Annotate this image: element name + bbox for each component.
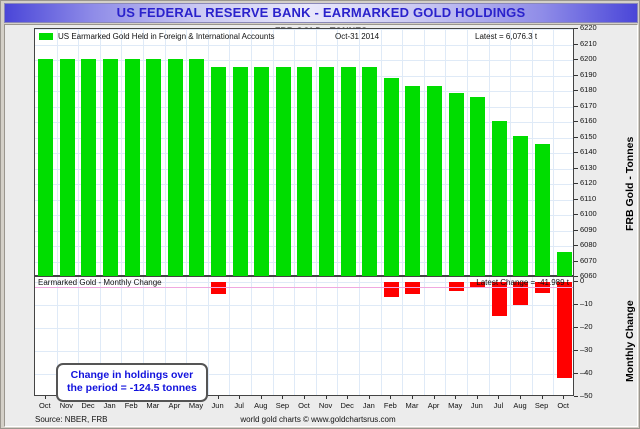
y-tick: [574, 396, 578, 397]
y-tick: [574, 261, 578, 262]
window-title: US FEDERAL RESERVE BANK - EARMARKED GOLD…: [5, 5, 637, 20]
y-tick-label: 6150: [580, 133, 597, 141]
y-tick-label: 6170: [580, 102, 597, 110]
y-tick: [574, 75, 578, 76]
callout-line-1: Change in holdings over: [71, 369, 194, 381]
holdings-bar: [38, 59, 53, 276]
chart-legend: US Earmarked Gold Held in Foreign & Inte…: [39, 32, 275, 41]
x-tick: [520, 396, 521, 399]
x-tick: [304, 396, 305, 399]
y-tick: [574, 137, 578, 138]
legend-label: US Earmarked Gold Held in Foreign & Inte…: [58, 32, 275, 41]
holdings-bar: [233, 67, 248, 276]
holdings-bar: [384, 78, 399, 276]
y-tick-label: 6130: [580, 164, 597, 172]
latest-change-annotation: Latest Change = -41.989 t: [476, 278, 569, 287]
monthly-change-header: Earmarked Gold - Monthly Change Latest C…: [35, 277, 573, 288]
holdings-bar: [535, 144, 550, 276]
monthly-change-label: Earmarked Gold - Monthly Change: [38, 278, 162, 287]
y-tick-label: –50: [580, 392, 593, 400]
y-tick-label: 6090: [580, 226, 597, 234]
y-tick-label: 6110: [580, 195, 596, 203]
y-tick: [574, 152, 578, 153]
holdings-bar: [189, 59, 204, 276]
x-tick: [218, 396, 219, 399]
x-tick: [498, 396, 499, 399]
y-tick: [574, 304, 578, 305]
y-tick-label: 6100: [580, 210, 597, 218]
monthly-change-axis-title: Monthly Change: [624, 300, 636, 382]
y-tick: [574, 90, 578, 91]
y-tick: [574, 281, 578, 282]
x-tick: [563, 396, 564, 399]
y-tick: [574, 245, 578, 246]
x-tick: [326, 396, 327, 399]
holdings-bar: [449, 93, 464, 276]
y-tick: [574, 350, 578, 351]
x-tick: [45, 396, 46, 399]
holdings-panel: US Earmarked Gold Held in Foreign & Inte…: [34, 28, 574, 276]
holdings-bar: [297, 67, 312, 276]
x-tick: [477, 396, 478, 399]
y-tick: [574, 199, 578, 200]
x-tick: [390, 396, 391, 399]
holdings-bar: [254, 67, 269, 276]
x-tick: [369, 396, 370, 399]
legend-swatch-green: [39, 33, 53, 40]
x-tick: [542, 396, 543, 399]
holdings-bar: [319, 67, 334, 276]
y-tick: [574, 214, 578, 215]
holdings-bar: [146, 59, 161, 276]
y-tick: [574, 121, 578, 122]
holdings-axis-title: FRB Gold - Tonnes: [624, 137, 636, 231]
holdings-bar: [103, 59, 118, 276]
holdings-bar: [557, 252, 572, 276]
y-tick: [574, 183, 578, 184]
monthly-change-bar: [557, 282, 572, 379]
window-title-bar: US FEDERAL RESERVE BANK - EARMARKED GOLD…: [4, 3, 638, 23]
y-tick: [574, 168, 578, 169]
holdings-bar: [362, 67, 377, 276]
date-annotation: Oct-31 2014: [335, 32, 379, 41]
x-tick: [455, 396, 456, 399]
callout-line-2: the period = -124.5 tonnes: [67, 382, 197, 394]
watermark-label: world gold charts © www.goldchartsrus.co…: [1, 415, 635, 424]
chart-window: US FEDERAL RESERVE BANK - EARMARKED GOLD…: [0, 0, 640, 429]
x-tick: [412, 396, 413, 399]
x-tick: [347, 396, 348, 399]
y-tick: [574, 373, 578, 374]
holdings-bar: [427, 86, 442, 276]
x-tick: [434, 396, 435, 399]
holdings-bar: [341, 67, 356, 276]
y-tick-label: 6200: [580, 55, 597, 63]
holdings-bar: [125, 59, 140, 276]
y-tick-label: –40: [580, 369, 593, 377]
y-tick: [574, 327, 578, 328]
y-tick-label: 6140: [580, 148, 597, 156]
holdings-bar: [405, 86, 420, 276]
y-tick: [574, 276, 578, 277]
y-tick-label: 6080: [580, 241, 597, 249]
holdings-bar: [60, 59, 75, 276]
y-tick: [574, 28, 578, 29]
holdings-bars: [35, 29, 573, 275]
x-tick-label: Oct: [549, 401, 577, 410]
period-change-callout: Change in holdings over the period = -12…: [56, 363, 208, 402]
y-tick-label: 6220: [580, 24, 597, 32]
y-tick-label: 6210: [580, 40, 597, 48]
y-tick-label: 6070: [580, 257, 597, 265]
holdings-bar: [492, 121, 507, 277]
x-tick: [239, 396, 240, 399]
x-tick: [261, 396, 262, 399]
holdings-bar: [81, 59, 96, 276]
y-tick-label: –10: [580, 300, 593, 308]
y-tick: [574, 230, 578, 231]
holdings-bar: [513, 136, 528, 276]
x-tick: [282, 396, 283, 399]
holdings-bar: [168, 59, 183, 276]
y-tick: [574, 44, 578, 45]
holdings-bar: [276, 67, 291, 276]
y-tick-label: 6120: [580, 179, 597, 187]
y-tick-label: 6160: [580, 117, 597, 125]
y-tick-label: –20: [580, 323, 593, 331]
y-tick: [574, 106, 578, 107]
y-tick: [574, 59, 578, 60]
y-tick-label: 0: [580, 277, 584, 285]
holdings-bar: [211, 67, 226, 276]
holdings-bar: [470, 97, 485, 276]
latest-annotation: Latest = 6,076.3 t: [475, 32, 537, 41]
y-tick-label: –30: [580, 346, 593, 354]
y-tick-label: 6180: [580, 86, 597, 94]
y-tick-label: 6190: [580, 71, 597, 79]
